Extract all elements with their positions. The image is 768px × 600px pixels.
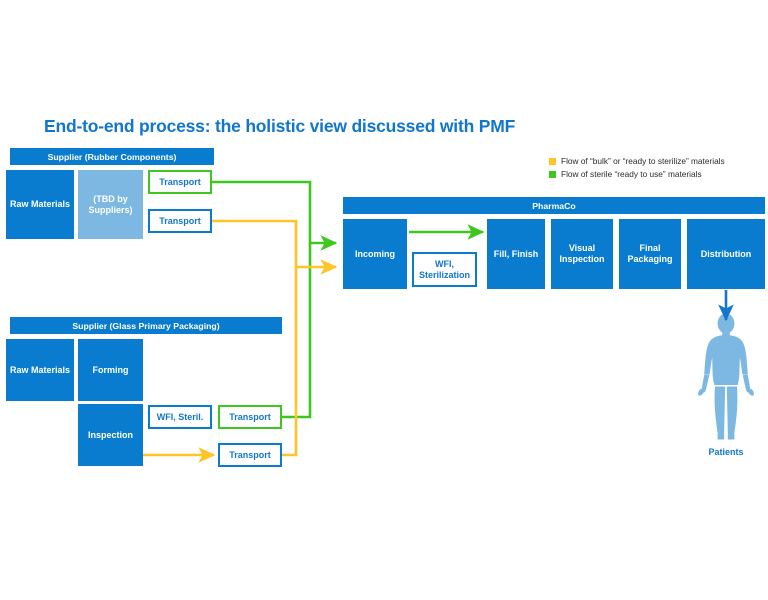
pharmaco-header: PharmaCo [343, 197, 765, 214]
glass-transport-bulk[interactable]: Transport [218, 443, 282, 467]
flow-arrows [0, 0, 768, 600]
arrow-rubber-sterile-to-incoming [212, 182, 336, 243]
pharmaco-stage-visual-inspection[interactable]: Visual Inspection [551, 219, 613, 289]
legend-item-bulk: Flow of “bulk” or “ready to sterilize” m… [549, 156, 764, 167]
glass-wfi-sterilization[interactable]: WFI, Steril. [148, 405, 212, 429]
rubber-box-raw-materials[interactable]: Raw Materials [6, 170, 74, 239]
pharmaco-wfi-sterilization[interactable]: WFI, Sterilization [412, 252, 477, 287]
glass-transport-sterile[interactable]: Transport [218, 405, 282, 429]
legend-label-sterile: Flow of sterile “ready to use” materials [561, 169, 702, 180]
supplier-rubber-header: Supplier (Rubber Components) [10, 148, 214, 165]
diagram-canvas: End-to-end process: the holistic view di… [0, 0, 768, 600]
pharmaco-stage-incoming[interactable]: Incoming [343, 219, 407, 289]
glass-box-raw-materials[interactable]: Raw Materials [6, 339, 74, 401]
legend-item-sterile: Flow of sterile “ready to use” materials [549, 169, 764, 180]
pharmaco-stage-fill-finish[interactable]: Fill, Finish [487, 219, 545, 289]
flow-legend: Flow of “bulk” or “ready to sterilize” m… [549, 156, 764, 182]
arrow-glass-sterile-to-trunk [282, 243, 310, 417]
page-title: End-to-end process: the holistic view di… [44, 116, 515, 137]
pharmaco-stage-final-packaging[interactable]: Final Packaging [619, 219, 681, 289]
rubber-box-tbd-by-suppliers[interactable]: (TBD by Suppliers) [78, 170, 143, 239]
pharmaco-stage-distribution[interactable]: Distribution [687, 219, 765, 289]
supplier-glass-header: Supplier (Glass Primary Packaging) [10, 317, 282, 334]
legend-label-bulk: Flow of “bulk” or “ready to sterilize” m… [561, 156, 725, 167]
glass-box-forming[interactable]: Forming [78, 339, 143, 401]
rubber-transport-sterile[interactable]: Transport [148, 170, 212, 194]
arrow-glass-bulk-to-trunk [282, 267, 296, 455]
patients-label: Patients [688, 447, 764, 457]
patients-body-icon [688, 312, 764, 442]
glass-box-inspection[interactable]: Inspection [78, 404, 143, 466]
legend-swatch-yellow-icon [549, 158, 556, 165]
arrow-rubber-bulk-to-incoming [212, 221, 336, 267]
rubber-transport-bulk[interactable]: Transport [148, 209, 212, 233]
legend-swatch-green-icon [549, 171, 556, 178]
